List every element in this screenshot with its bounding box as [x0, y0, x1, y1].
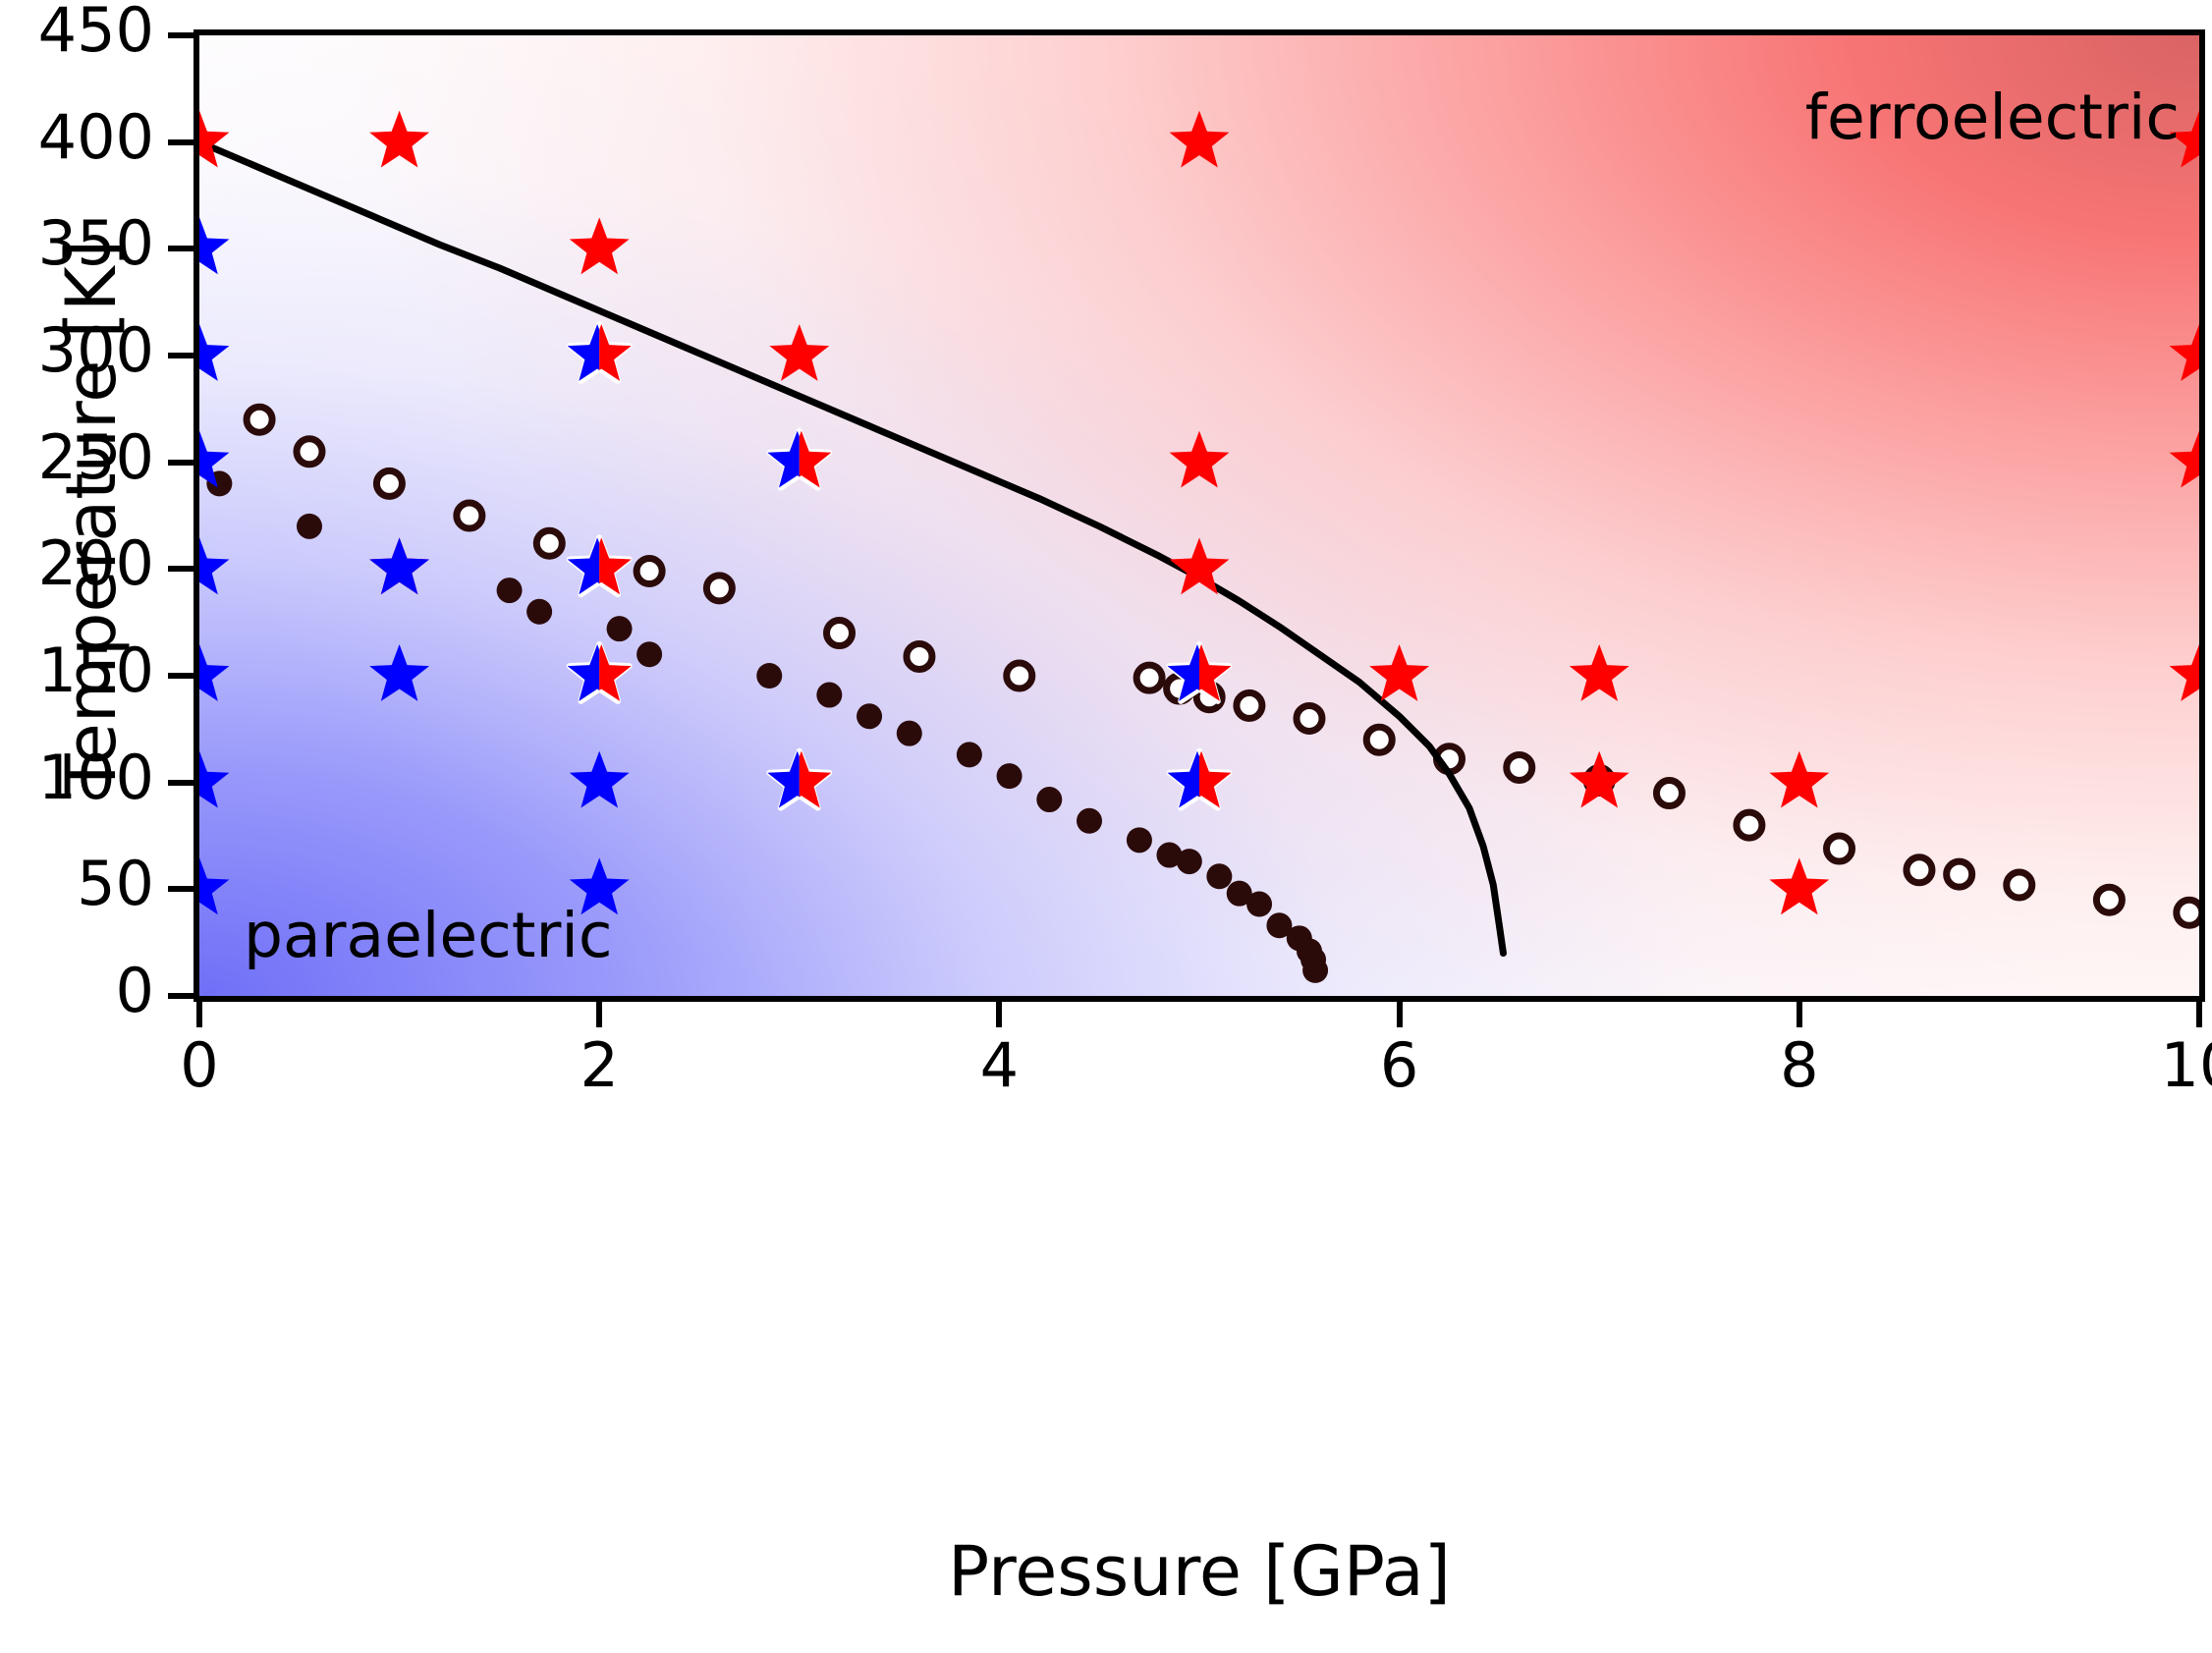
red-star-marker: [570, 217, 630, 274]
plot-area: ferroelectric paraelectric: [194, 29, 2205, 1002]
y-tick-mark: [168, 139, 194, 145]
open-circle-marker: [1237, 692, 1262, 718]
y-tick-mark: [168, 780, 194, 786]
open-circle-marker: [1507, 754, 1532, 780]
x-tick-mark: [996, 1002, 1002, 1027]
red-star-marker: [1570, 644, 1630, 701]
filled-circle-marker: [1036, 787, 1062, 812]
open-circle-marker: [636, 559, 662, 584]
filled-circle-marker: [957, 742, 982, 767]
ferroelectric-region-label: ferroelectric: [1805, 86, 2180, 148]
open-circle-marker: [827, 621, 853, 646]
blue-star-marker: [199, 217, 229, 274]
open-circle-marker: [1366, 727, 1392, 752]
open-circle-marker: [2096, 887, 2122, 912]
open-circle-marker: [457, 503, 482, 528]
open-circle-marker: [907, 643, 932, 669]
blue-star-marker: [199, 324, 229, 381]
filled-circle-marker: [897, 721, 922, 746]
split-star-marker: [1167, 751, 1231, 808]
data-marker-layer: [199, 35, 2199, 996]
split-star-marker: [767, 751, 831, 808]
blue-star-marker: [199, 644, 229, 701]
open-circle-marker: [2007, 872, 2032, 898]
filled-circle-marker: [997, 763, 1023, 789]
y-tick-mark: [168, 353, 194, 358]
open-circle-marker: [1947, 861, 1972, 887]
paraelectric-region-label: paraelectric: [244, 905, 613, 966]
red-star-marker: [2170, 431, 2199, 488]
filled-circle-marker: [1177, 849, 1202, 874]
red-star-marker: [769, 324, 829, 381]
red-star-marker: [1769, 857, 1829, 914]
red-star-marker: [199, 111, 229, 168]
red-star-marker: [369, 111, 429, 168]
filled-circle-marker: [1127, 827, 1152, 853]
y-axis-title: Temperature [K]: [57, 31, 126, 1004]
filled-circle-marker: [1077, 808, 1102, 834]
filled-circle-marker: [607, 616, 633, 641]
open-circle-marker: [1737, 812, 1762, 838]
open-circle-marker: [297, 439, 322, 465]
y-tick-mark: [168, 566, 194, 572]
open-circle-marker: [2177, 900, 2199, 925]
blue-star-marker: [199, 857, 229, 914]
filled-circle-marker: [497, 578, 523, 603]
split-star-marker: [767, 431, 831, 488]
open-circle-marker: [706, 576, 732, 601]
open-circle-marker: [536, 530, 562, 556]
filled-circle-marker: [526, 599, 552, 625]
filled-circle-marker: [1206, 863, 1232, 889]
open-circle-marker: [1907, 857, 1932, 883]
y-tick-mark: [168, 673, 194, 679]
filled-circle-marker: [636, 641, 662, 667]
red-star-marker: [2170, 644, 2199, 701]
red-star-marker: [2170, 324, 2199, 381]
filled-circle-marker: [297, 514, 322, 539]
y-tick-mark: [168, 886, 194, 892]
blue-star-marker: [369, 644, 429, 701]
split-star-marker: [568, 644, 632, 701]
x-axis-title: Pressure [GPa]: [194, 1537, 2205, 1606]
red-star-marker: [1570, 751, 1630, 808]
x-tick-mark: [2196, 1002, 2202, 1027]
red-star-marker: [1769, 751, 1829, 808]
split-star-marker: [568, 537, 632, 594]
x-tick-label: 4: [891, 1035, 1107, 1096]
x-tick-label: 0: [91, 1035, 307, 1096]
filled-circle-marker: [857, 703, 882, 729]
x-tick-label: 8: [1691, 1035, 1908, 1096]
phase-diagram-figure: ferroelectric paraelectric 0501001502002…: [0, 0, 2212, 1653]
open-circle-marker: [1827, 836, 1853, 861]
open-circle-marker: [1656, 781, 1682, 806]
phase-boundary-line: [199, 142, 1503, 954]
x-tick-mark: [196, 1002, 202, 1027]
open-circle-marker: [1007, 663, 1032, 689]
x-tick-mark: [596, 1002, 602, 1027]
filled-circle-marker: [816, 683, 842, 708]
red-star-marker: [1369, 644, 1429, 701]
filled-circle-marker: [1302, 958, 1328, 983]
split-star-marker: [568, 324, 632, 381]
red-star-marker: [1170, 431, 1230, 488]
y-tick-mark: [168, 993, 194, 999]
red-star-marker: [1170, 111, 1230, 168]
blue-star-marker: [199, 751, 229, 808]
x-tick-label: 10: [2091, 1035, 2212, 1096]
open-circle-marker: [247, 407, 272, 432]
filled-circle-marker: [756, 663, 782, 689]
open-circle-marker: [376, 470, 402, 496]
open-circle-marker: [1297, 705, 1322, 731]
y-tick-mark: [168, 32, 194, 38]
x-tick-label: 2: [491, 1035, 707, 1096]
blue-star-marker: [369, 537, 429, 594]
y-tick-mark: [168, 246, 194, 251]
open-circle-marker: [1136, 665, 1162, 690]
y-tick-mark: [168, 460, 194, 466]
x-tick-mark: [1397, 1002, 1403, 1027]
filled-circle-marker: [1246, 892, 1272, 917]
blue-star-marker: [199, 537, 229, 594]
x-tick-label: 6: [1292, 1035, 1508, 1096]
blue-star-marker: [570, 751, 630, 808]
x-tick-mark: [1797, 1002, 1802, 1027]
